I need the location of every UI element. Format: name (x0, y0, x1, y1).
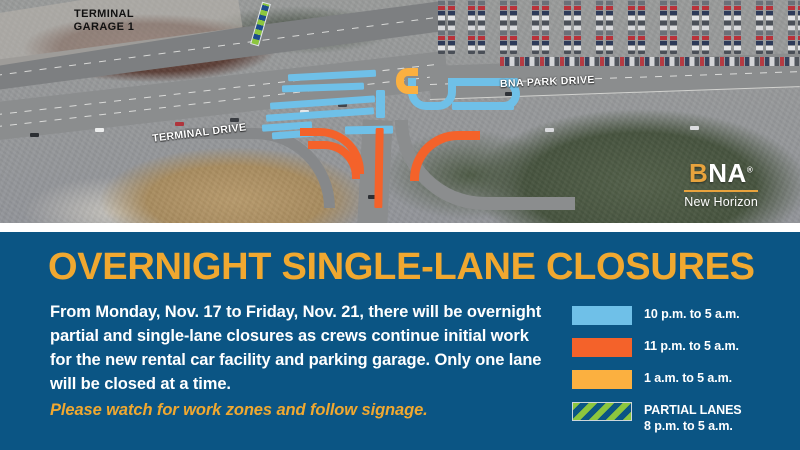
page-title: OVERNIGHT SINGLE-LANE CLOSURES (48, 248, 755, 286)
closure-overlay-orange-vertical (374, 128, 383, 208)
closure-overlay-blue (345, 126, 393, 135)
legend-label: PARTIAL LANES (644, 403, 742, 417)
vehicle (95, 128, 104, 132)
bna-logo-divider (684, 190, 758, 192)
map-label-line-1: TERMINAL (52, 8, 156, 21)
parking-row-edge (500, 57, 800, 66)
panel-body-text: From Monday, Nov. 17 to Friday, Nov. 21,… (50, 301, 550, 397)
map-label-terminal-garage-1: TERMINAL GARAGE 1 (52, 8, 156, 33)
legend-swatch-amber (572, 370, 632, 389)
panel-tagline: Please watch for work zones and follow s… (50, 401, 570, 420)
bna-logo-tagline: New Horizon (684, 195, 758, 209)
map-label-line-2: GARAGE 1 (52, 21, 156, 34)
legend-item: PARTIAL LANES 8 p.m. to 5 a.m. (572, 402, 787, 434)
legend-swatch-orange (572, 338, 632, 357)
bna-logo-letters-na: NA (708, 158, 747, 188)
legend-label: 10 p.m. to 5 a.m. (644, 306, 740, 323)
info-panel: OVERNIGHT SINGLE-LANE CLOSURES From Mond… (0, 232, 800, 450)
legend-swatch-green-hatch (572, 402, 632, 421)
legend-label-secondary: 8 p.m. to 5 a.m. (644, 419, 742, 435)
closure-overlay-amber (396, 68, 418, 94)
vehicle (30, 133, 39, 137)
legend-swatch-light-blue (572, 306, 632, 325)
legend-label-group: PARTIAL LANES 8 p.m. to 5 a.m. (644, 402, 742, 434)
legend-item: 10 p.m. to 5 a.m. (572, 306, 787, 325)
infographic-root: TERMINAL GARAGE 1 TERMINAL DRIVE BNA PAR… (0, 0, 800, 450)
legend-item: 1 a.m. to 5 a.m. (572, 370, 787, 389)
legend-item: 11 p.m. to 5 a.m. (572, 338, 787, 357)
aerial-map: TERMINAL GARAGE 1 TERMINAL DRIVE BNA PAR… (0, 0, 800, 223)
vehicle (690, 126, 699, 130)
legend: 10 p.m. to 5 a.m. 11 p.m. to 5 a.m. 1 a.… (572, 306, 787, 434)
bna-logo: BNA® New Horizon (684, 160, 758, 209)
closure-overlay-blue (376, 90, 385, 118)
registered-trademark-icon: ® (747, 165, 753, 174)
bna-logo-wordmark: BNA® (684, 160, 758, 186)
vehicle (175, 122, 184, 126)
legend-label: 1 a.m. to 5 a.m. (644, 370, 732, 387)
bna-logo-letter-b: B (689, 158, 708, 188)
vehicle (545, 128, 554, 132)
legend-label: 11 p.m. to 5 a.m. (644, 338, 739, 355)
